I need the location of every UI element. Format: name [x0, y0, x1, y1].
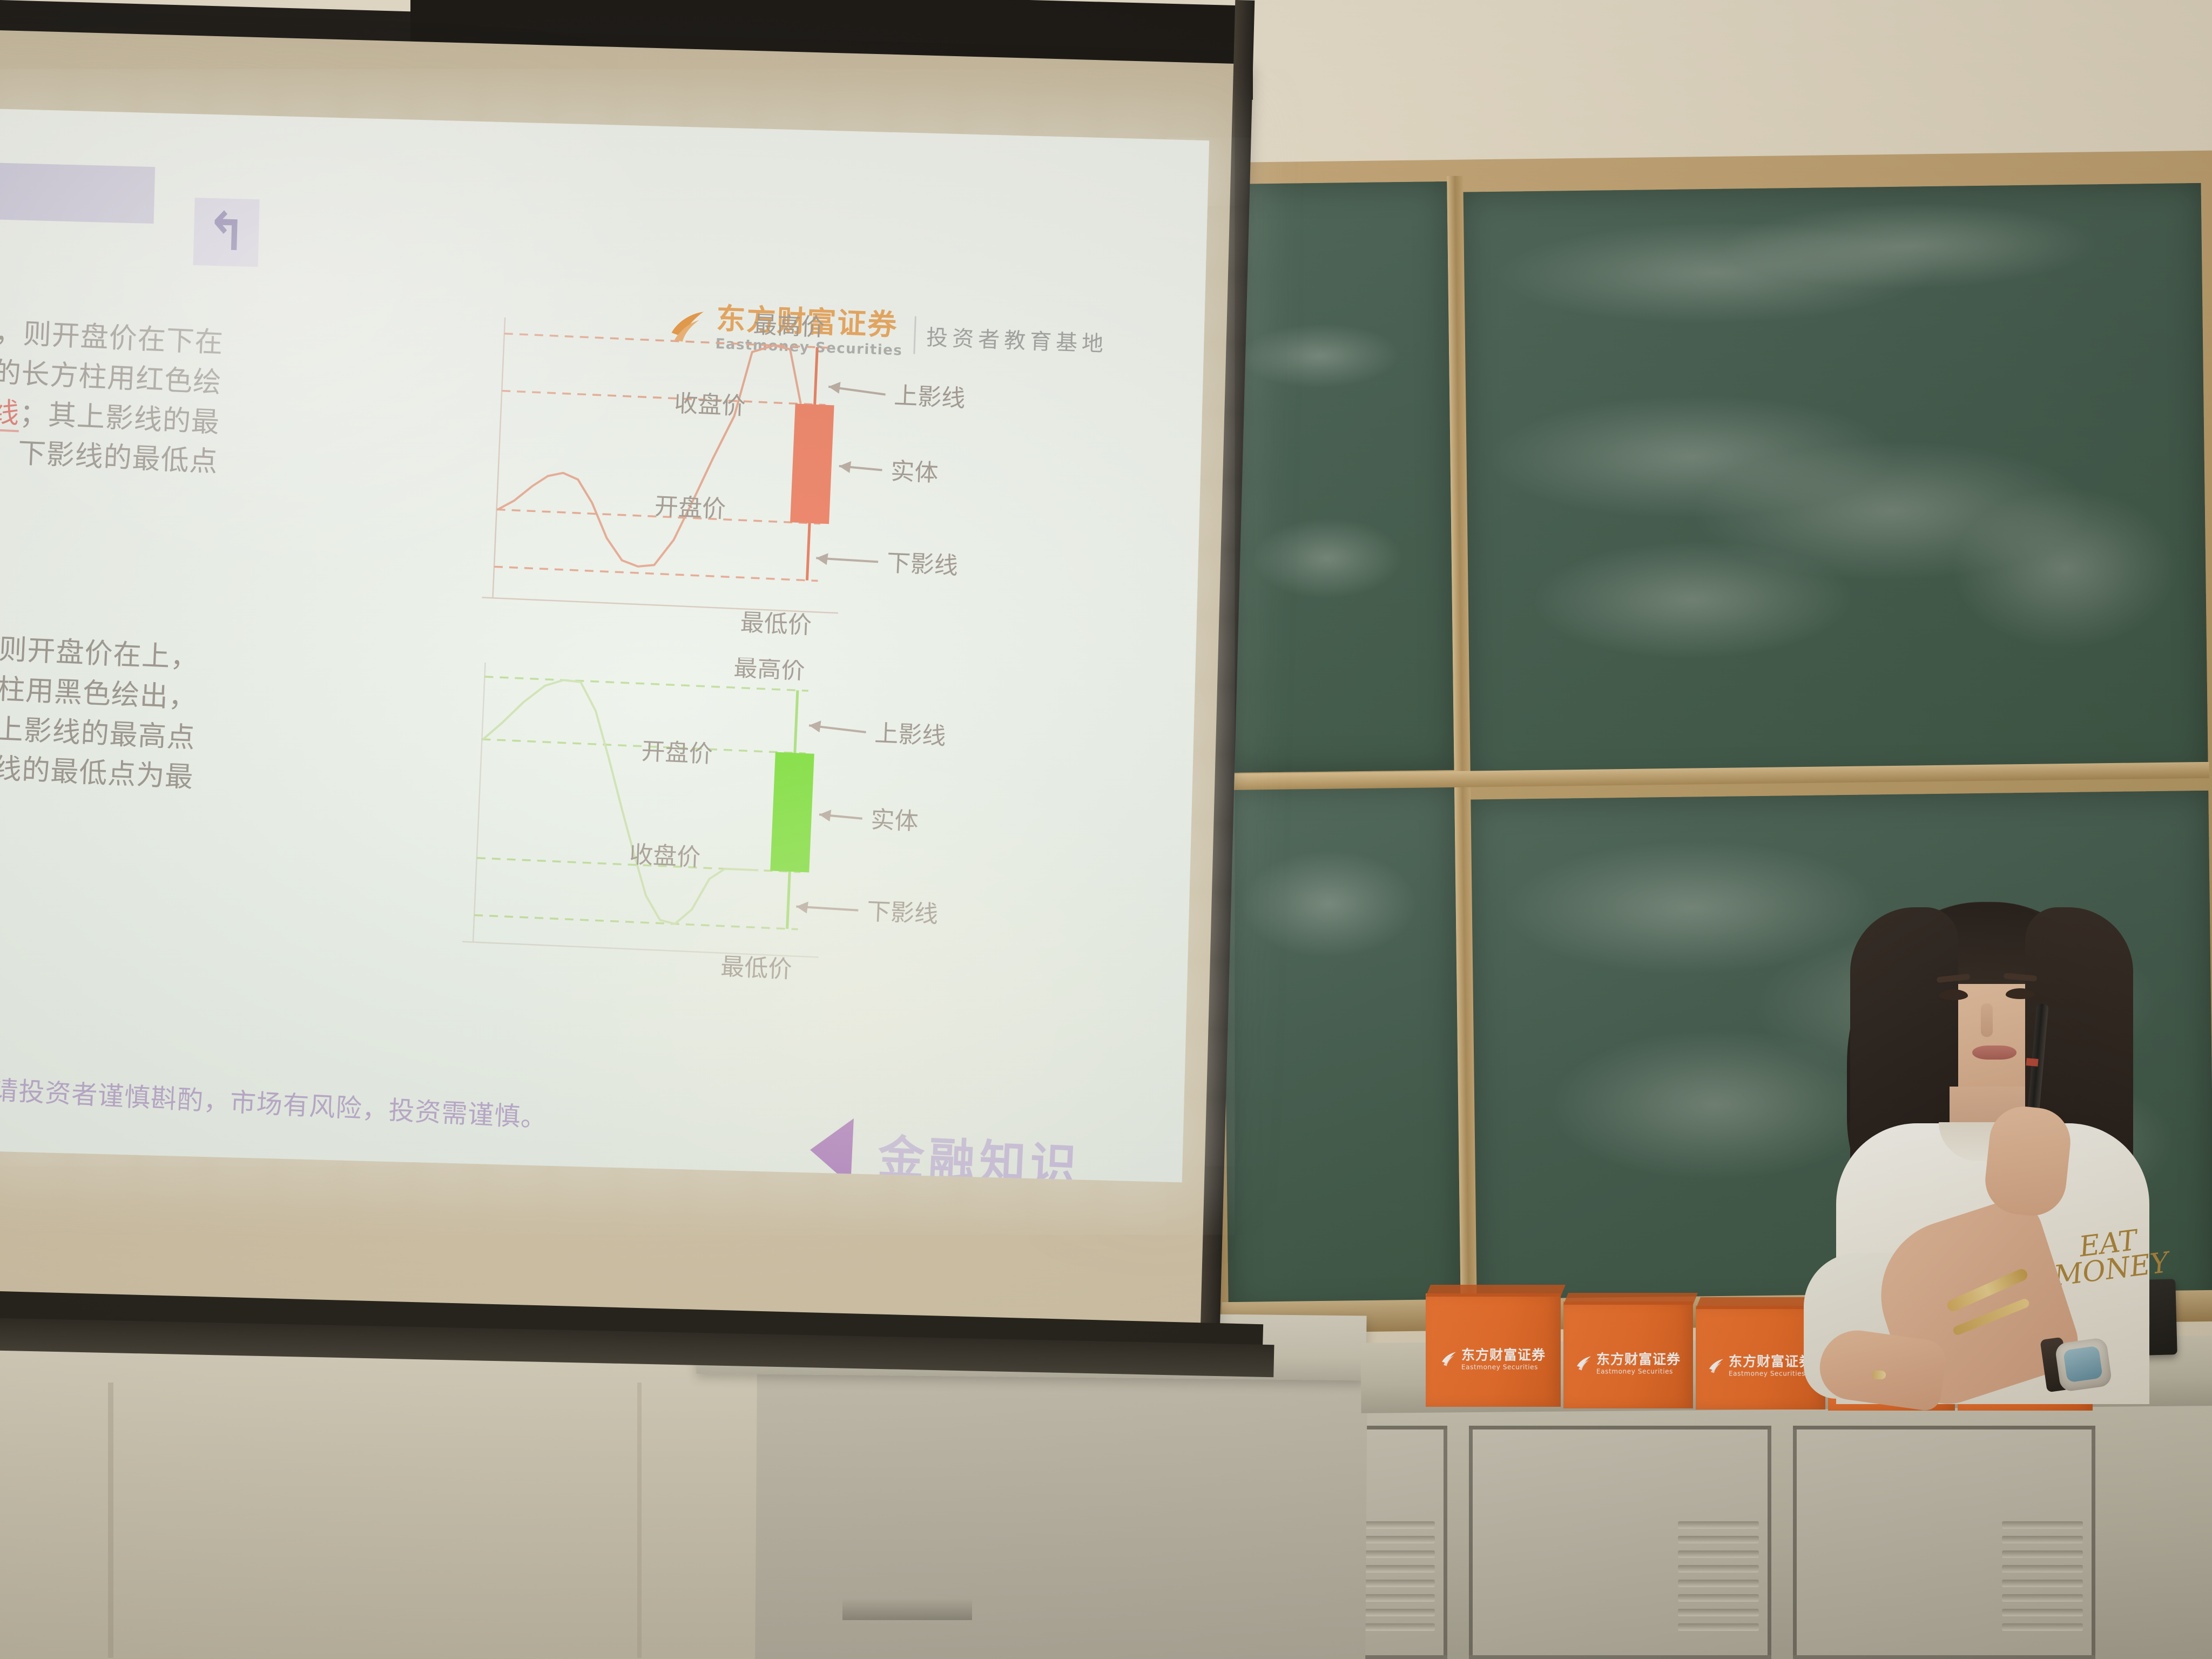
para2-after: ，其上影线的最高点为最高价，下影线的最低点为最低价。	[0, 710, 196, 820]
chevron-left-icon	[808, 1116, 854, 1183]
eye-right	[2006, 988, 2035, 999]
candlestick-diagram-bullish: 最高价 上影线 收盘价 实体 开盘价 下影线 最低价	[458, 294, 1062, 665]
box-brand-cn: 东方财富证券	[1596, 1352, 1681, 1366]
slide-paragraph-2: 低于开盘价时，则开盘价在上，二者之间的长方柱用黑色绘出，称之为阴线，其上影线的最…	[0, 621, 220, 839]
box-brand-logo: 东方财富证券 Eastmoney Securities	[1441, 1348, 1546, 1370]
box-brand-cn: 东方财富证券	[1461, 1348, 1546, 1361]
uturn-arrow-icon: ↰	[206, 211, 247, 253]
presenter: EAT MONEY	[1825, 886, 2160, 1404]
uturn-icon-box: ↰	[193, 198, 260, 267]
classroom-scene: 东方财富证券 Eastmoney Securities 东方财富证券 Eastm…	[0, 0, 2212, 1659]
box-brand-en: Eastmoney Securities	[1729, 1371, 1813, 1377]
smartwatch-screen[interactable]	[2063, 1346, 2103, 1383]
box-brand-en: Eastmoney Securities	[1461, 1364, 1546, 1370]
para1-highlight: 阳线	[0, 395, 21, 432]
eastmoney-mark-icon	[1708, 1358, 1724, 1373]
slide-disclaimer: 直接操作建议；请投资者谨慎斟酌，市场有风险，投资需谨慎。	[0, 1060, 752, 1145]
chalkboard-panel-3	[1222, 784, 1461, 1316]
svg-text:最高价: 最高价	[733, 654, 805, 685]
svg-text:上影线: 上影线	[874, 720, 946, 751]
wall-seam-2	[637, 1382, 642, 1658]
chalkboard-panel-2	[1461, 183, 2208, 786]
svg-text:下影线: 下影线	[886, 549, 959, 580]
projected-slide: ↰ 东方财富证券 Eastmoney Securities 投资者教育基地 高于…	[0, 108, 1209, 1183]
svg-text:实体: 实体	[870, 806, 919, 835]
svg-text:上影线: 上影线	[893, 382, 966, 413]
slide-footer-brand: 金融知识	[808, 1116, 1082, 1182]
box-lid	[1563, 1293, 1698, 1305]
eastmoney-mark-icon	[1576, 1356, 1592, 1371]
svg-text:最低价: 最低价	[740, 609, 812, 639]
candlestick-diagram-bearish: 最高价 上影线 开盘价 实体 收盘价 下影线 最低价	[439, 645, 1042, 1016]
tshirt-print-line2: MONEY	[2052, 1246, 2170, 1293]
svg-text:开盘价: 开盘价	[654, 493, 726, 523]
eye-left	[1939, 989, 1968, 1000]
slide-footer-brand-label: 金融知识	[876, 1119, 1082, 1182]
svg-text:下影线: 下影线	[866, 898, 939, 928]
para1-after: ；其上影线的最高点为最高价，下影线的最低点为最低价。	[0, 397, 220, 507]
chalkboard-panel-1	[1215, 181, 1454, 773]
box-lid	[1426, 1285, 1566, 1297]
nose	[1981, 1003, 1993, 1037]
list-item[interactable]: 东方财富证券 Eastmoney Securities	[1426, 1293, 1561, 1407]
svg-text:实体: 实体	[890, 457, 939, 487]
svg-text:收盘价: 收盘价	[673, 390, 746, 421]
box-brand-en: Eastmoney Securities	[1596, 1368, 1681, 1374]
slide-paragraph-1: 高于开盘价时，则开盘价在下在上，二者之间的长方柱用红色绘出，称之为阳线；其上影线…	[0, 306, 245, 524]
cabinet-door-3[interactable]	[1793, 1426, 2095, 1659]
wall-lower	[0, 1334, 767, 1659]
box-brand-cn: 东方财富证券	[1729, 1355, 1813, 1368]
box-brand-logo: 东方财富证券 Eastmoney Securities	[1576, 1352, 1681, 1374]
eastmoney-mark-icon	[1441, 1352, 1457, 1367]
label-high: 最高价	[753, 311, 825, 342]
box-brand-logo: 东方财富证券 Eastmoney Securities	[1708, 1355, 1813, 1377]
microphone-band	[2026, 1058, 2038, 1067]
cabinet-door-2[interactable]	[1469, 1426, 1771, 1659]
podium-drawer-slide	[842, 1599, 972, 1620]
list-item[interactable]: 东方财富证券 Eastmoney Securities	[1563, 1301, 1693, 1408]
svg-text:收盘价: 收盘价	[629, 841, 701, 872]
svg-text:最低价: 最低价	[720, 953, 792, 984]
wall-seam-1	[108, 1382, 113, 1658]
ring	[1872, 1371, 1886, 1379]
svg-text:开盘价: 开盘价	[641, 738, 713, 768]
mouth	[1972, 1046, 2017, 1060]
slide-banner-bar	[0, 160, 155, 224]
